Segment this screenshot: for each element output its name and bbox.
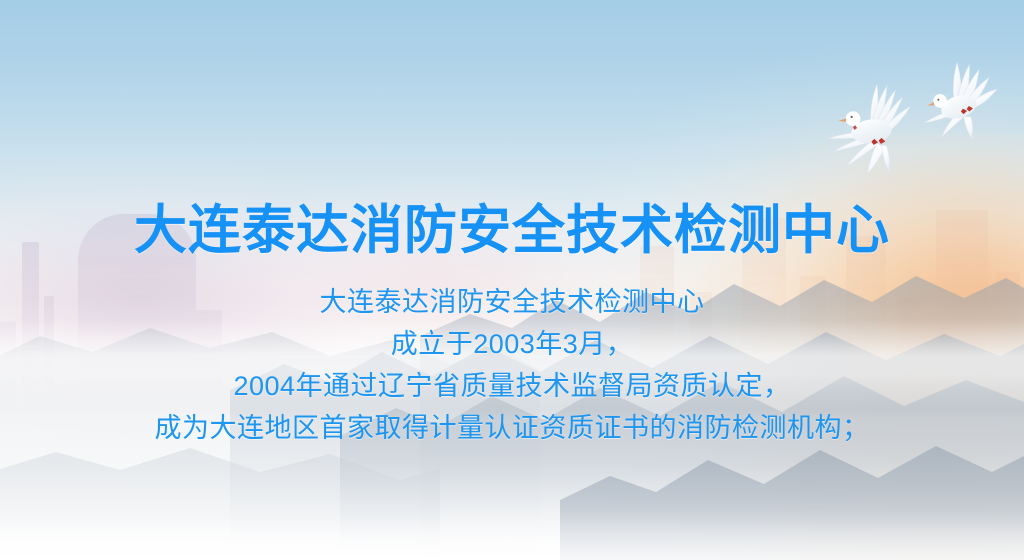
intro-line: 成立于2003年3月， — [0, 323, 1024, 365]
banner-content: 大连泰达消防安全技术检测中心 大连泰达消防安全技术检测中心 成立于2003年3月… — [0, 0, 1024, 560]
intro-line: 2004年通过辽宁省质量技术监督局资质认定， — [0, 365, 1024, 407]
intro-line: 成为大连地区首家取得计量认证资质证书的消防检测机构； — [0, 407, 1024, 449]
intro-paragraph: 大连泰达消防安全技术检测中心 成立于2003年3月， 2004年通过辽宁省质量技… — [0, 281, 1024, 449]
hero-banner: 大连泰达消防安全技术检测中心 大连泰达消防安全技术检测中心 成立于2003年3月… — [0, 0, 1024, 560]
page-title: 大连泰达消防安全技术检测中心 — [0, 200, 1024, 262]
intro-line: 大连泰达消防安全技术检测中心 — [0, 281, 1024, 323]
